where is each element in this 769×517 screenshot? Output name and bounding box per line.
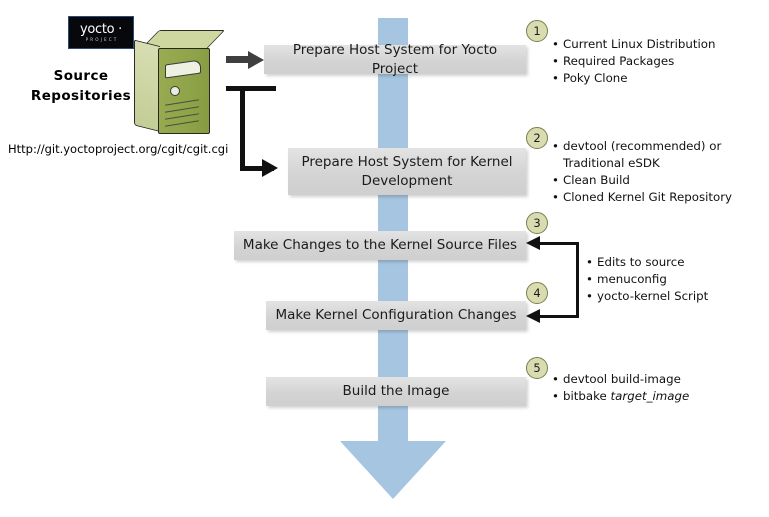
- step-number-3: 3: [526, 212, 548, 234]
- note-italic-arg: target_image: [611, 389, 690, 403]
- step-number-4: 4: [526, 282, 548, 304]
- connector-bracket-to-step4: [540, 315, 578, 318]
- process-box-prepare-host-kernel[interactable]: Prepare Host System for Kernel Developme…: [288, 148, 526, 195]
- notes-list-step-2: devtool (recommended) or Traditional eSD…: [550, 138, 762, 206]
- notes-steps-3-and-4: Edits to source menuconfig yocto-kernel …: [584, 254, 764, 305]
- logo-subtext: PROJECT: [84, 38, 119, 42]
- note-item: Current Linux Distribution: [563, 36, 760, 53]
- note-item-italic-target: bitbake target_image: [563, 388, 750, 405]
- note-item: devtool build-image: [563, 371, 750, 388]
- process-box-make-kernel-config-changes[interactable]: Make Kernel Configuration Changes: [266, 301, 526, 330]
- flow-arrow-head: [340, 441, 446, 499]
- note-item: Required Packages: [563, 53, 760, 70]
- note-item: Cloned Kernel Git Repository: [563, 189, 762, 206]
- notes-step-2: devtool (recommended) or Traditional eSD…: [550, 138, 762, 206]
- step-number-5: 5: [526, 357, 548, 379]
- note-item: yocto-kernel Script: [597, 288, 764, 305]
- process-box-make-kernel-source-changes[interactable]: Make Changes to the Kernel Source Files: [234, 231, 526, 260]
- connector-server-to-step2-h1: [226, 86, 276, 91]
- source-repositories-label: Source Repositories: [22, 66, 140, 106]
- note-item: Clean Build: [563, 172, 762, 189]
- notes-step-1: Current Linux Distribution Required Pack…: [550, 36, 760, 87]
- connector-bracket-to-step3: [540, 242, 578, 245]
- step-number-2: 2: [526, 127, 548, 149]
- process-box-prepare-host-yocto[interactable]: Prepare Host System for Yocto Project: [264, 45, 526, 74]
- arrowhead-to-step3: [526, 236, 540, 250]
- note-item: Poky Clone: [563, 70, 760, 87]
- note-command: bitbake: [563, 389, 611, 403]
- arrowhead-to-step1: [248, 51, 264, 69]
- server-side-face: [134, 40, 160, 132]
- note-item: menuconfig: [597, 271, 764, 288]
- arrowhead-to-step4: [526, 309, 540, 323]
- arrowhead-to-step2: [262, 159, 278, 177]
- server-tower-icon: [134, 28, 230, 138]
- step-number-1: 1: [526, 20, 548, 42]
- note-item: Edits to source: [597, 254, 764, 271]
- source-repository-url: Http://git.yoctoproject.org/cgit/cgit.cg…: [8, 142, 228, 156]
- logo-wordmark: yocto ·: [80, 23, 122, 36]
- notes-list-step-1: Current Linux Distribution Required Pack…: [550, 36, 760, 87]
- notes-step-5: devtool build-image bitbake target_image: [550, 371, 750, 405]
- connector-bracket-vertical: [576, 242, 579, 318]
- diagram-canvas: yocto · PROJECT Source Repositories Http…: [0, 0, 769, 517]
- note-item: devtool (recommended) or Traditional eSD…: [563, 138, 762, 172]
- notes-list-steps-34: Edits to source menuconfig yocto-kernel …: [584, 254, 764, 305]
- server-power-led: [170, 86, 180, 96]
- yocto-project-logo: yocto · PROJECT: [68, 16, 134, 49]
- connector-server-to-step2-v: [240, 86, 245, 170]
- process-box-build-image[interactable]: Build the Image: [266, 377, 526, 406]
- notes-list-step-5: devtool build-image bitbake target_image: [550, 371, 750, 405]
